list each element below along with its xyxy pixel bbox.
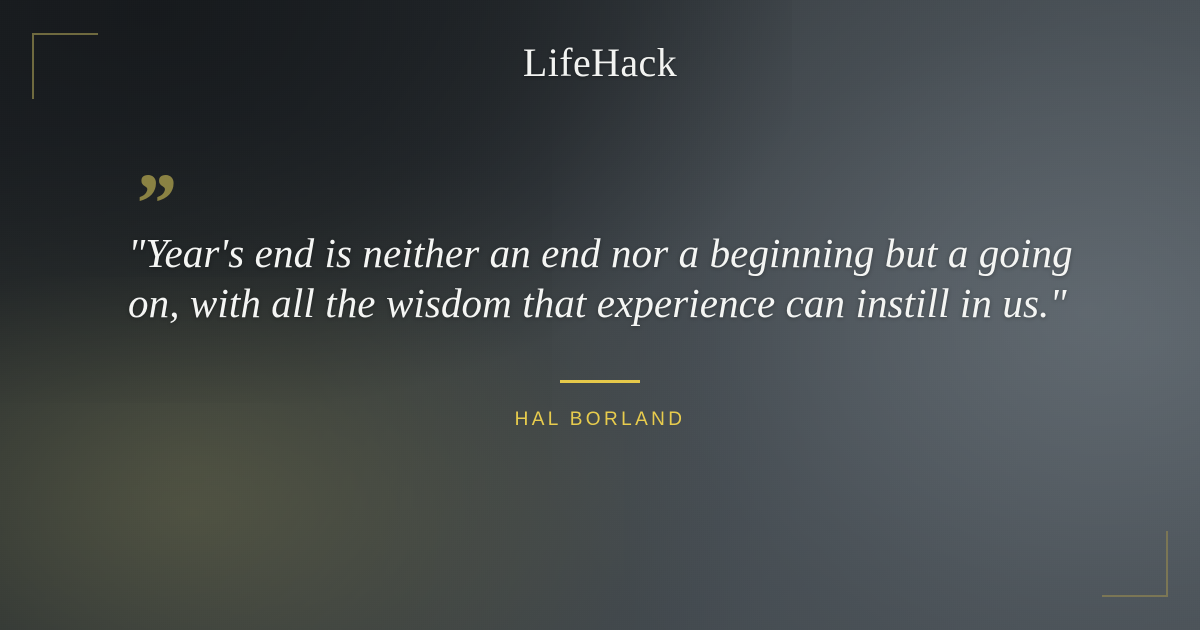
quote-block: ” "Year's end is neither an end nor a be…: [128, 160, 1088, 328]
quote-author: HAL BORLAND: [0, 409, 1200, 431]
attribution-divider: [560, 380, 640, 383]
quotation-mark-icon: ”: [132, 160, 1088, 212]
quote-card: LifeHack ” "Year's end is neither an end…: [0, 0, 1200, 630]
corner-bracket-bottom-right-icon: [1102, 531, 1168, 597]
quote-text: "Year's end is neither an end nor a begi…: [128, 228, 1088, 328]
brand-logo: LifeHack: [0, 40, 1200, 86]
attribution-block: HAL BORLAND: [0, 380, 1200, 431]
background-glow-bottom-left: [0, 277, 624, 630]
